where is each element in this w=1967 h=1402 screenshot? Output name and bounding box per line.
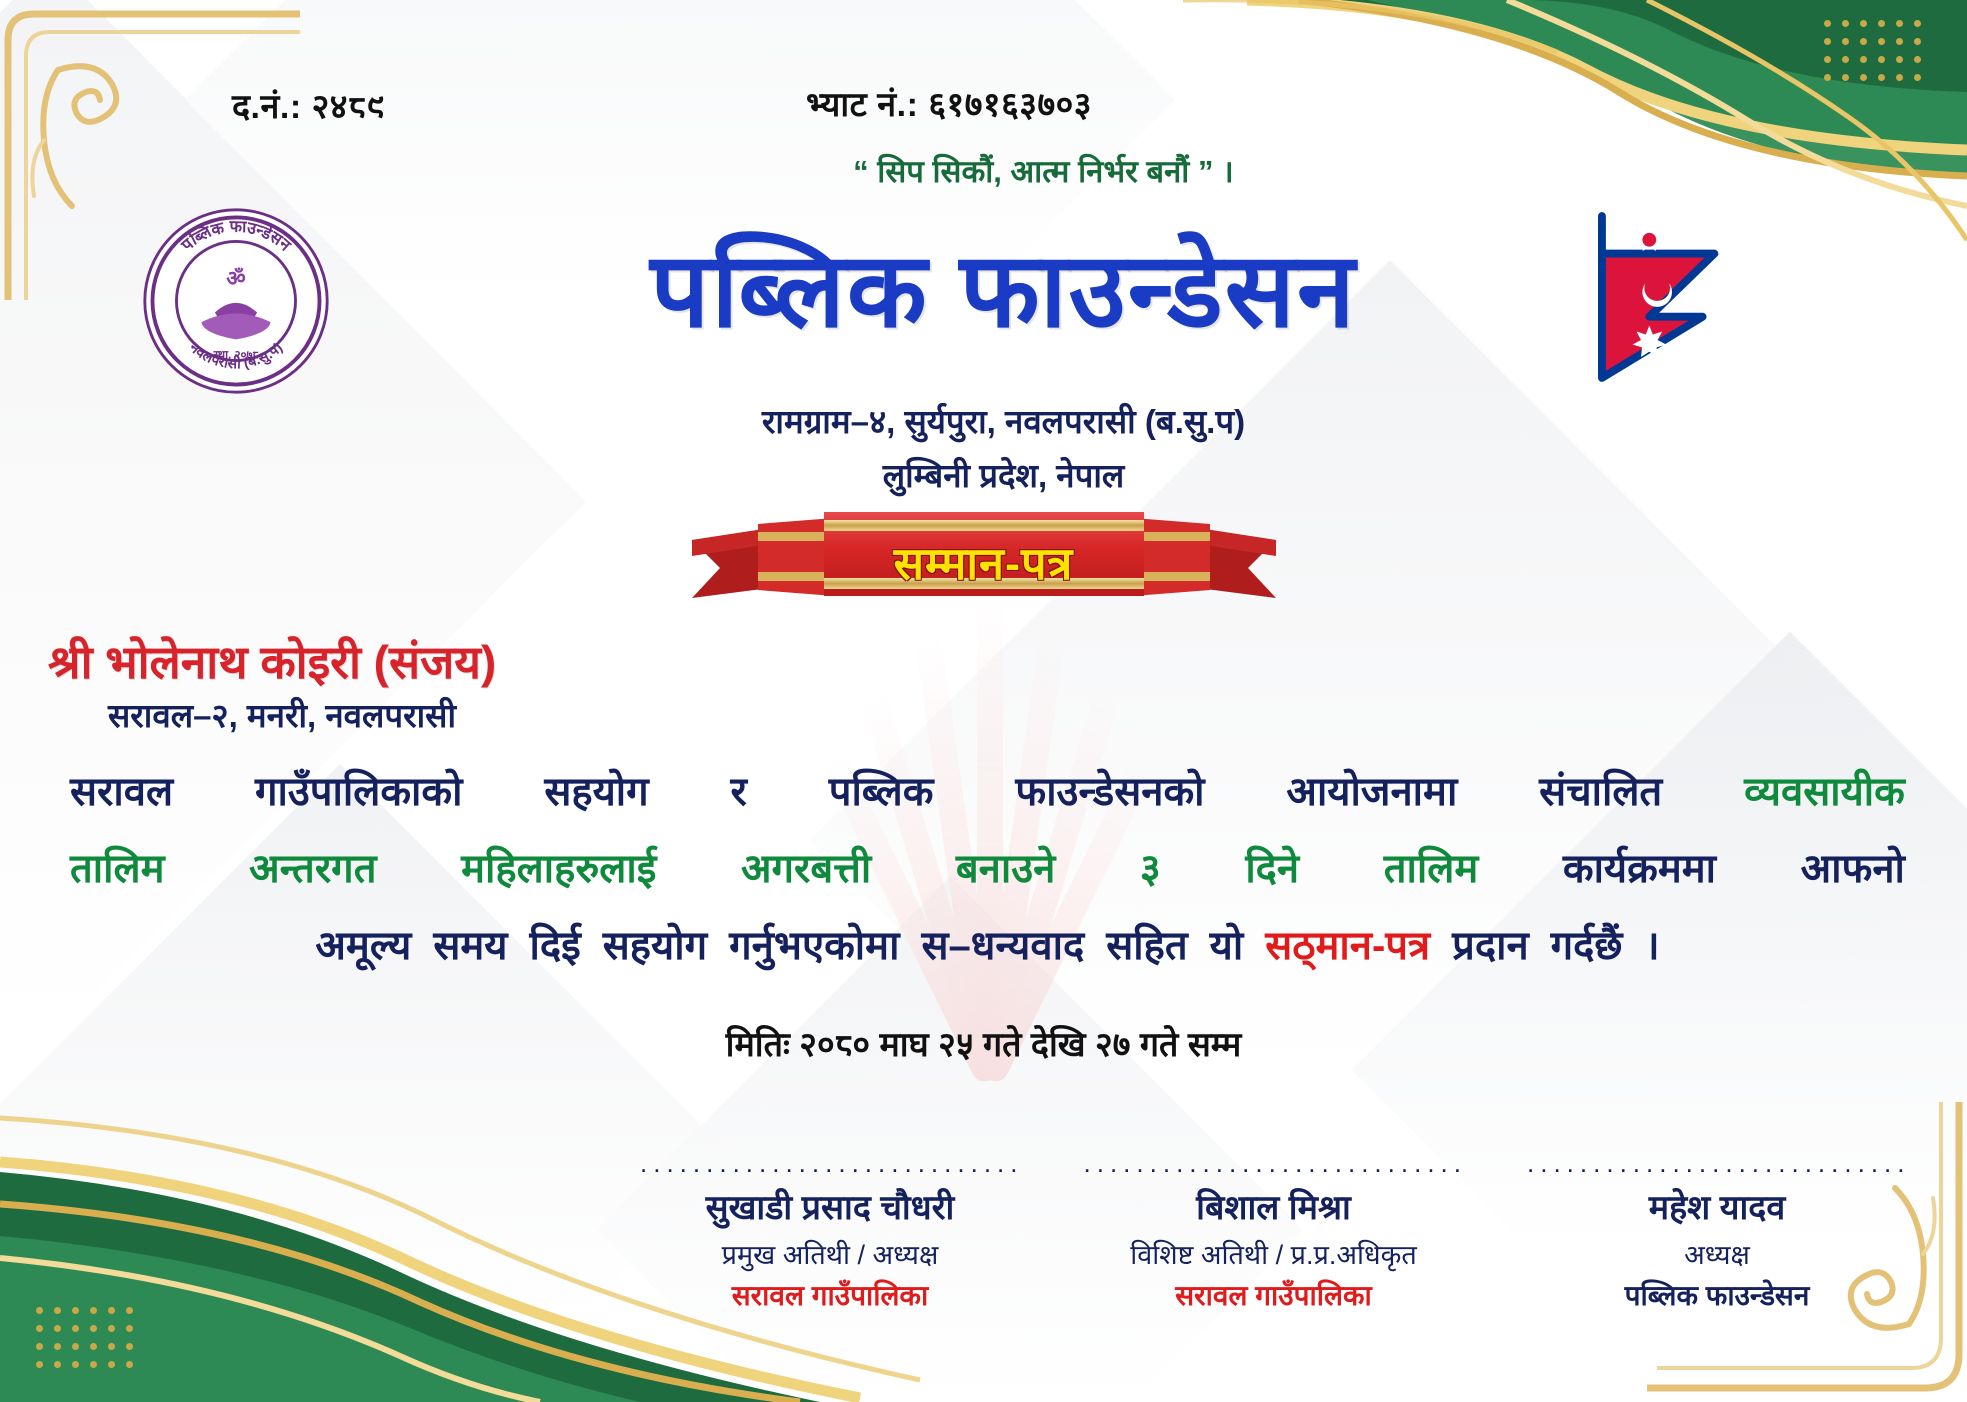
body-word: र [731, 762, 747, 817]
certificate-title-text: सम्मान-पत्र [684, 532, 1284, 593]
signature-block: ..............................महेश यादवअ… [1527, 1148, 1907, 1314]
body-word: अगरबत्ती [741, 839, 871, 894]
organization-address-line1: रामग्राम–४, सुर्यपुरा, नवलपरासी (ब.सु.प) [0, 398, 1967, 443]
body-word: सरावल [70, 762, 173, 817]
certificate-page: द.नं.: २४८९ भ्याट नं.: ६१७१६३७०३ “ सिप स… [0, 0, 1967, 1402]
signature-block: ..............................सुखाडी प्र… [640, 1148, 1020, 1314]
body-word: आफनो [1801, 839, 1905, 894]
body-word: पब्लिक [829, 762, 934, 817]
signature-name: सुखाडी प्रसाद चौधरी [640, 1183, 1020, 1229]
vat-number: भ्याट नं.: ६१७१६३७०३ [806, 80, 1092, 126]
recipient-address: सरावल–२, मनरी, नवलपरासी [108, 692, 456, 737]
body-word: ३ [1140, 839, 1161, 894]
body-word: तालिम [70, 839, 165, 894]
body-word: सहयोग [544, 762, 648, 817]
body-word: दिई [530, 916, 581, 971]
body-word: सठ्मान-पत्र [1265, 916, 1430, 971]
signature-block: ..............................बिशाल मिश्… [1084, 1148, 1464, 1314]
body-word: कार्यक्रममा [1563, 839, 1716, 894]
logo-year: स्था. २०७८ [213, 350, 259, 362]
body-word: स–धन्यवाद [921, 916, 1084, 971]
vat-number-label: भ्याट नं.: [806, 86, 918, 124]
body-word: व्यवसायीक [1744, 762, 1905, 817]
signature-dotted-line: .............................. [1527, 1148, 1907, 1179]
vat-number-value: ६१७१६३७०३ [928, 86, 1092, 124]
body-word: । [1644, 916, 1659, 971]
body-line-1: सरावलगाउँपालिकाकोसहयोगरपब्लिकफाउन्डेसनको… [70, 762, 1905, 817]
event-date: मितिः २०८० माघ २५ गते देखि २७ गते सम्म [0, 1020, 1967, 1066]
body-line-3: अमूल्यसमयदिईसहयोगगर्नुभएकोमास–धन्यवादसहि… [70, 916, 1905, 971]
body-word: अमूल्य [315, 916, 411, 971]
body-word: सहयोग [603, 916, 707, 971]
body-word: यो [1210, 916, 1244, 971]
body-word: बनाउने [956, 839, 1056, 894]
certificate-title-ribbon: सम्मान-पत्र [684, 498, 1284, 610]
signature-organization: सरावल गाउँपालिका [640, 1276, 1020, 1314]
signature-organization: सरावल गाउँपालिका [1084, 1276, 1464, 1314]
signature-role: प्रमुख अतिथी / अध्यक्ष [640, 1235, 1020, 1272]
body-word: आयोजनामा [1286, 762, 1457, 817]
body-word: गर्नुभएकोमा [729, 916, 899, 971]
signature-role: अध्यक्ष [1527, 1235, 1907, 1272]
body-word: गाउँपालिकाको [255, 762, 463, 817]
body-word: संचालित [1539, 762, 1662, 817]
body-word: अन्तरगत [249, 839, 376, 894]
signature-name: महेश यादव [1527, 1183, 1907, 1229]
signature-organization: पब्लिक फाउन्डेसन [1527, 1276, 1907, 1314]
certificate-body: सरावलगाउँपालिकाकोसहयोगरपब्लिकफाउन्डेसनको… [70, 762, 1905, 993]
signature-dotted-line: .............................. [640, 1148, 1020, 1179]
signature-name: बिशाल मिश्रा [1084, 1183, 1464, 1229]
body-word: महिलाहरुलाई [461, 839, 656, 894]
signature-row: ..............................सुखाडी प्र… [640, 1148, 1907, 1314]
body-word: समय [433, 916, 507, 971]
registration-number-label: द.नं.: [232, 88, 302, 126]
body-word: गर्दछैं [1551, 916, 1623, 971]
organization-address-line2: लुम्बिनी प्रदेश, नेपाल [0, 452, 1967, 497]
registration-number: द.नं.: २४८९ [232, 82, 384, 128]
organization-title: पब्लिक फाउन्डेसन [0, 238, 1967, 344]
body-word: फाउन्डेसनको [1015, 762, 1204, 817]
signature-dotted-line: .............................. [1084, 1148, 1464, 1179]
recipient-name: श्री भोलेनाथ कोइरी (संजय) [48, 630, 496, 692]
body-word: दिने [1245, 839, 1299, 894]
body-line-2: तालिमअन्तरगतमहिलाहरुलाईअगरबत्तीबनाउने३दि… [70, 839, 1905, 894]
signature-role: विशिष्ट अतिथी / प्र.प्र.अधिकृत [1084, 1235, 1464, 1272]
tagline: “ सिप सिकौं, आत्म निर्भर बनौं ” । [0, 150, 1967, 192]
body-word: प्रदान [1452, 916, 1529, 971]
body-word: तालिम [1384, 839, 1479, 894]
registration-number-value: २४८९ [312, 88, 385, 126]
body-word: सहित [1106, 916, 1187, 971]
